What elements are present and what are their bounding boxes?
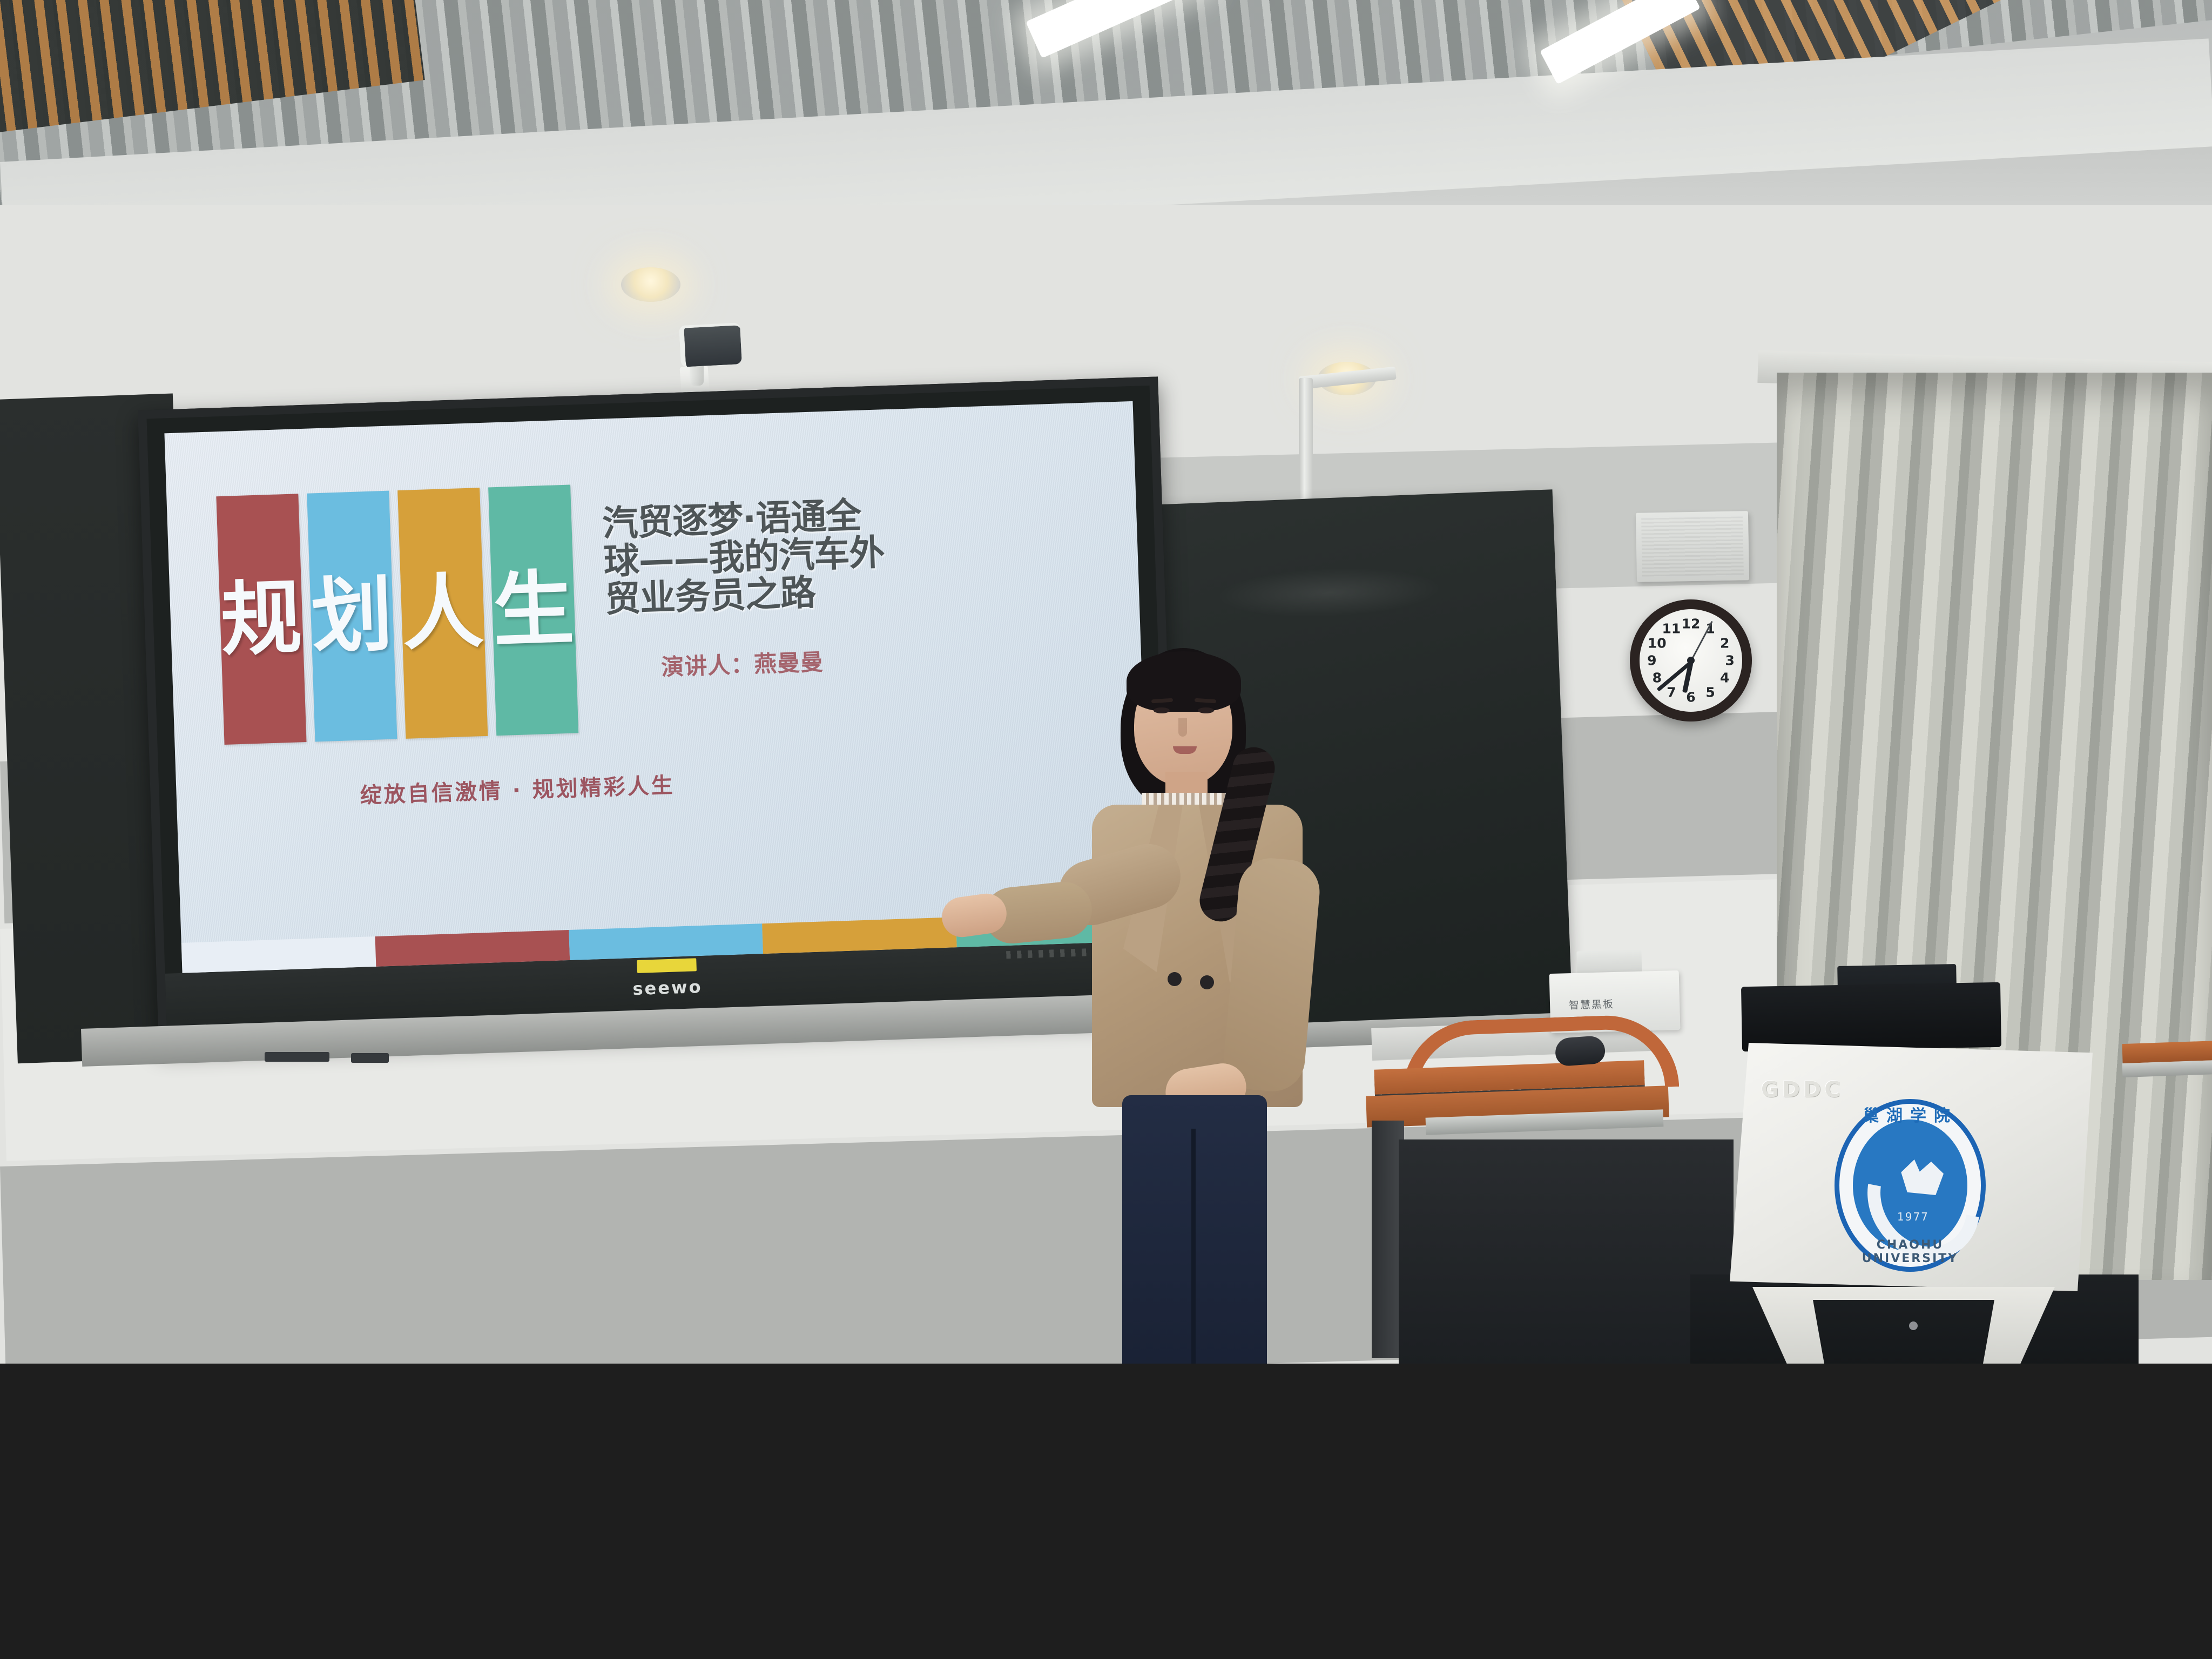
blazer-button	[1200, 975, 1214, 989]
wall-speaker-box	[1636, 511, 1749, 582]
computer-mouse[interactable]	[1554, 1035, 1606, 1067]
smart-board[interactable]: 规 划 人 生 汽贸逐梦·语通全球——我的汽车外贸业务员之路 演讲人：燕曼曼 绽…	[138, 376, 1179, 1047]
slide-color-bars: 规 划 人 生	[216, 485, 578, 745]
university-crest: 1977 巢湖学院 CHAOHU UNIVERSITY	[1835, 1099, 1986, 1272]
screenshot-root: 规 划 人 生 汽贸逐梦·语通全球——我的汽车外贸业务员之路 演讲人：燕曼曼 绽…	[0, 0, 2212, 1659]
clock-numeral: 5	[1705, 684, 1715, 700]
presenter	[1026, 643, 1404, 1364]
slide-tagline: 绽放自信激情 · 规划精彩人生	[360, 767, 676, 809]
wall-clock: 12 1 2 3 4 5 6 7 8 9 10 11	[1630, 599, 1752, 721]
recessed-downlight	[621, 267, 680, 302]
clock-numeral: 10	[1648, 635, 1667, 651]
presenter-eye	[1154, 707, 1170, 713]
clock-numeral: 11	[1662, 621, 1681, 637]
photograph: 规 划 人 生 汽贸逐梦·语通全球——我的汽车外贸业务员之路 演讲人：燕曼曼 绽…	[0, 0, 2212, 1364]
crest-chinese-name: 巢湖学院	[1835, 1102, 1986, 1126]
presenter-eye	[1198, 707, 1214, 713]
desk-cabinet	[1399, 1139, 1734, 1364]
presenter-nose	[1178, 718, 1187, 737]
trouser-seam	[1191, 1129, 1196, 1364]
clock-numeral: 6	[1686, 690, 1695, 705]
presenter-fringe	[1127, 651, 1241, 712]
slide-headline-char: 规	[219, 577, 303, 661]
ledge-objects	[265, 1052, 427, 1065]
clock-numeral: 7	[1667, 684, 1676, 700]
crest-english-name: CHAOHU UNIVERSITY	[1835, 1238, 1986, 1265]
clock-numeral: 9	[1647, 653, 1656, 669]
smart-board-screen[interactable]: 规 划 人 生 汽贸逐梦·语通全球——我的汽车外贸业务员之路 演讲人：燕曼曼 绽…	[164, 401, 1150, 973]
clock-numeral: 4	[1720, 670, 1729, 686]
lectern-monitor[interactable]	[1741, 982, 2001, 1051]
blazer-button	[1168, 972, 1182, 986]
clock-numeral: 3	[1725, 653, 1734, 669]
camera-body	[679, 322, 742, 367]
letterbox-bottom	[0, 1364, 2212, 1659]
control-box-label: 智慧黑板	[1569, 995, 1650, 1012]
smart-board-brand-label: seewo	[632, 976, 703, 999]
slide-headline-char: 人	[401, 571, 484, 655]
board-warning-label	[637, 958, 697, 973]
slide-headline-char: 生	[491, 568, 575, 652]
slide-headline-char: 划	[310, 575, 394, 658]
clock-center-pin	[1687, 657, 1695, 664]
crest-founding-year: 1977	[1897, 1210, 1929, 1223]
slide-bar-3: 人	[397, 488, 488, 739]
lectern[interactable]: GDDC 1977 巢湖学院 CHAOHU UNIVERSITY	[1715, 991, 2114, 1364]
lectern-legs	[1752, 1287, 2055, 1364]
rear-table-top	[2122, 1041, 2212, 1063]
clock-numeral: 8	[1653, 670, 1662, 686]
clock-numeral: 12	[1682, 616, 1701, 631]
lectern-fastener	[1909, 1321, 1918, 1330]
lectern-brand-label: GDDC	[1761, 1077, 1844, 1102]
slide-title: 汽贸逐梦·语通全球——我的汽车外贸业务员之路	[602, 496, 886, 618]
slide-bar-2: 划	[307, 491, 397, 742]
security-camera-icon	[678, 324, 743, 394]
ceiling	[0, 0, 2212, 227]
slide-bar-4: 生	[488, 485, 578, 736]
slide-speaker-name: 演讲人：燕曼曼	[660, 644, 824, 682]
slide-bar-1: 规	[216, 494, 306, 745]
clock-face: 12 1 2 3 4 5 6 7 8 9 10 11	[1640, 609, 1742, 712]
clock-numeral: 2	[1720, 635, 1729, 651]
